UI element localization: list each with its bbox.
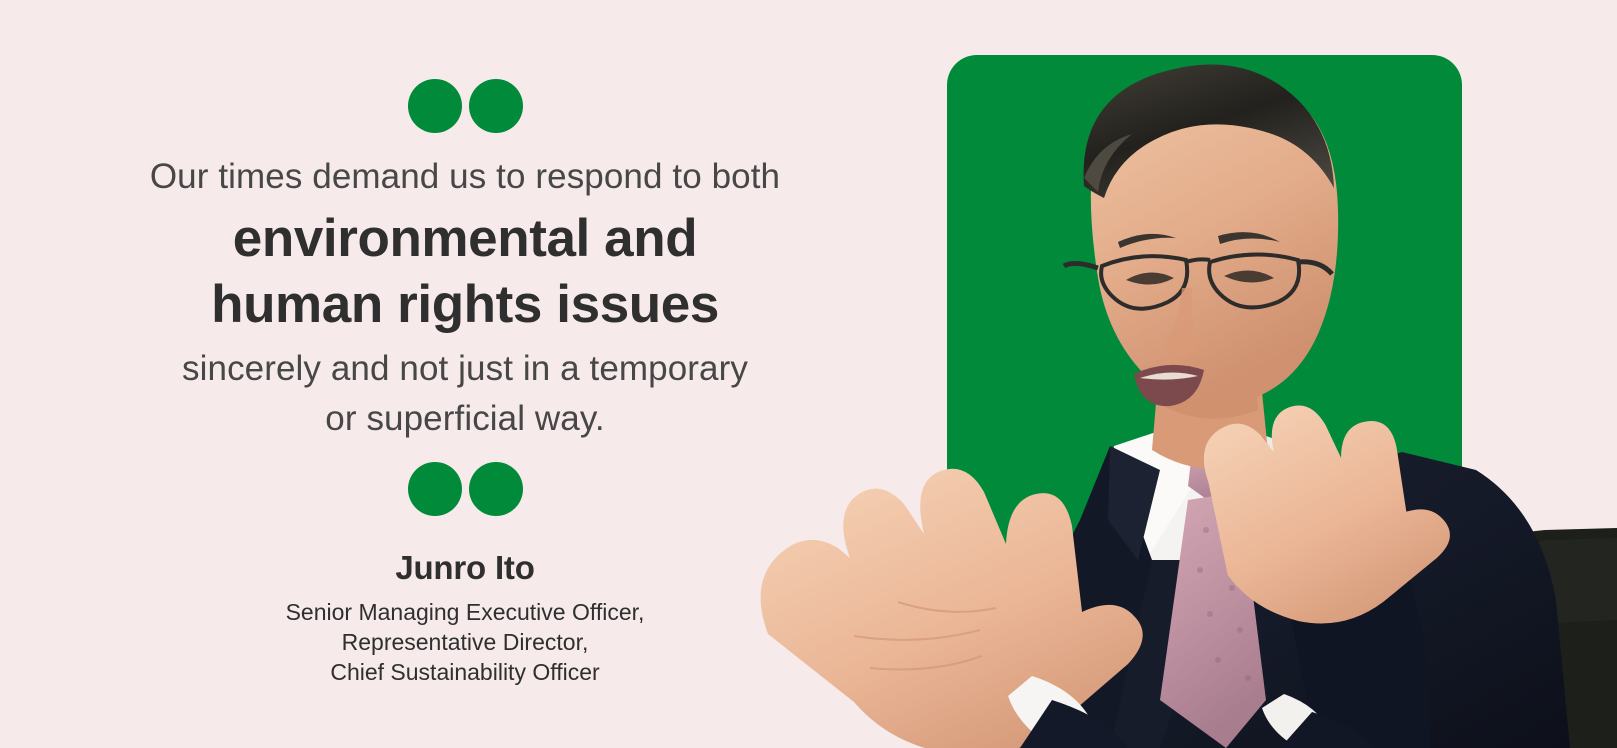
quote-emphasis-line-2: human rights issues <box>0 272 930 338</box>
quote-line-3: or superficial way. <box>0 394 930 444</box>
quote-circle-icon <box>469 79 523 133</box>
person-title-line-1: Senior Managing Executive Officer, <box>0 597 930 627</box>
quote-emphasis-line-1: environmental and <box>0 206 930 272</box>
quote-circle-icon <box>469 462 523 516</box>
quote-circle-icon <box>408 79 462 133</box>
person-titles: Senior Managing Executive Officer, Repre… <box>0 597 930 687</box>
quote-banner: Our times demand us to respond to both e… <box>0 0 1617 748</box>
person-title-line-2: Representative Director, <box>0 627 930 657</box>
quote-line-2: sincerely and not just in a temporary <box>0 344 930 394</box>
quote-mark-bottom <box>0 462 930 516</box>
person-name: Junro Ito <box>0 548 930 588</box>
quote-text: Our times demand us to respond to both e… <box>0 152 930 444</box>
quote-column: Our times demand us to respond to both e… <box>0 0 930 748</box>
person-title-line-3: Chief Sustainability Officer <box>0 657 930 687</box>
quote-emphasis: environmental and human rights issues <box>0 206 930 338</box>
quote-circle-icon <box>408 462 462 516</box>
quote-line-1: Our times demand us to respond to both <box>0 152 930 202</box>
quote-mark-top <box>0 79 930 133</box>
attribution: Junro Ito Senior Managing Executive Offi… <box>0 548 930 687</box>
